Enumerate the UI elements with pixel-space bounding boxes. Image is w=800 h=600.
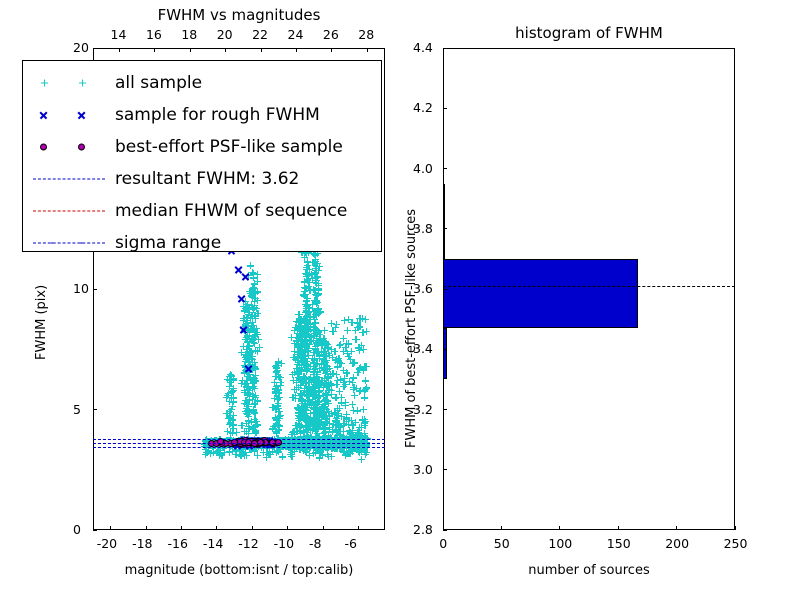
tick-label-right-y: 2.8 [413, 522, 433, 537]
tick-mark [443, 228, 447, 229]
tick-label-bottom: -16 [167, 536, 187, 551]
tick-mark [676, 526, 677, 530]
legend-marker-rough-fwhm [23, 99, 115, 131]
tick-mark [443, 349, 447, 350]
legend-marker-resultant-fwhm [23, 163, 115, 195]
tick-label-bottom: -18 [132, 536, 152, 551]
sigma-range-line-lower [93, 447, 385, 448]
histogram-bars-layer [443, 48, 735, 530]
tick-mark [443, 289, 447, 290]
tick-label-bottom: -6 [344, 536, 356, 551]
legend-item: all sample [23, 67, 381, 99]
left-xlabel: magnitude (bottom:isnt / top:calib) [63, 563, 415, 578]
tick-label-top: 18 [181, 27, 197, 42]
tick-label-left-y: 20 [73, 40, 89, 55]
histogram-bar [443, 259, 638, 328]
tick-mark [443, 530, 447, 531]
tick-label-left-y: 0 [73, 522, 81, 537]
tick-label-bottom: -14 [203, 536, 223, 551]
tick-label-bottom: -12 [238, 536, 258, 551]
legend-item: sample for rough FWHM [23, 99, 381, 131]
tick-label-top: 16 [146, 27, 162, 42]
tick-mark [443, 108, 447, 109]
right-xlabel: number of sources [443, 563, 735, 578]
legend-marker-psf-like [23, 131, 115, 163]
legend-label: all sample [115, 73, 202, 93]
left-ylabel: FWHM (pix) [34, 285, 49, 360]
legend-label: sigma range [115, 233, 221, 253]
tick-label-bottom: -8 [309, 536, 321, 551]
sigma-range-line-upper [93, 439, 385, 440]
tick-mark [443, 409, 447, 410]
tick-label-right-x: 150 [607, 536, 631, 551]
tick-label-top: 28 [358, 27, 374, 42]
right-chart-title: histogram of FWHM [443, 24, 735, 42]
legend-label: sample for rough FWHM [115, 105, 320, 125]
tick-label-right-y: 4.4 [413, 40, 433, 55]
legend-marker-median-fwhm [23, 195, 115, 227]
tick-mark [735, 526, 736, 530]
tick-mark [501, 526, 502, 530]
tick-label-right-x: 50 [494, 536, 510, 551]
tick-mark [618, 526, 619, 530]
histogram-bar [443, 184, 445, 259]
legend-marker-all-sample [23, 67, 115, 99]
tick-label-top: 22 [252, 27, 268, 42]
tick-label-top: 20 [217, 27, 233, 42]
tick-label-right-x: 250 [724, 536, 748, 551]
histogram-median-line [443, 286, 735, 287]
tick-mark [443, 168, 447, 169]
right-ylabel: FWHM of best-effort PSF-like sources [404, 209, 419, 448]
tick-label-top: 26 [323, 27, 339, 42]
tick-mark [559, 526, 560, 530]
legend-item: resultant FWHM: 3.62 [23, 163, 381, 195]
tick-label-left-y: 5 [73, 402, 81, 417]
tick-mark [443, 469, 447, 470]
legend-marker-sigma-range [23, 227, 115, 259]
tick-label-top: 24 [288, 27, 304, 42]
tick-label-left-y: 10 [73, 281, 89, 296]
tick-label-right-x: 200 [665, 536, 689, 551]
tick-label-right-y: 4.2 [413, 100, 433, 115]
histogram-bar [443, 328, 447, 379]
figure: FWHM vs magnitudes 1416182022242628 -20-… [0, 0, 800, 600]
tick-label-right-y: 3.0 [413, 462, 433, 477]
tick-label-bottom: -10 [274, 536, 294, 551]
legend: all sample sample for rough FWHM best-ef… [22, 60, 382, 252]
resultant-fwhm-line [93, 443, 385, 444]
legend-label: resultant FWHM: 3.62 [115, 169, 299, 189]
legend-label: median FHWM of sequence [115, 201, 347, 221]
tick-label-right-x: 0 [439, 536, 447, 551]
legend-label: best-effort PSF-like sample [115, 137, 343, 157]
tick-label-top: 14 [111, 27, 127, 42]
left-chart-title: FWHM vs magnitudes [93, 6, 385, 24]
legend-item: best-effort PSF-like sample [23, 131, 381, 163]
legend-item: median FHWM of sequence [23, 195, 381, 227]
tick-mark [443, 48, 447, 49]
tick-label-right-x: 100 [548, 536, 572, 551]
tick-label-bottom: -20 [97, 536, 117, 551]
legend-item: sigma range [23, 227, 381, 259]
tick-label-right-y: 4.0 [413, 161, 433, 176]
